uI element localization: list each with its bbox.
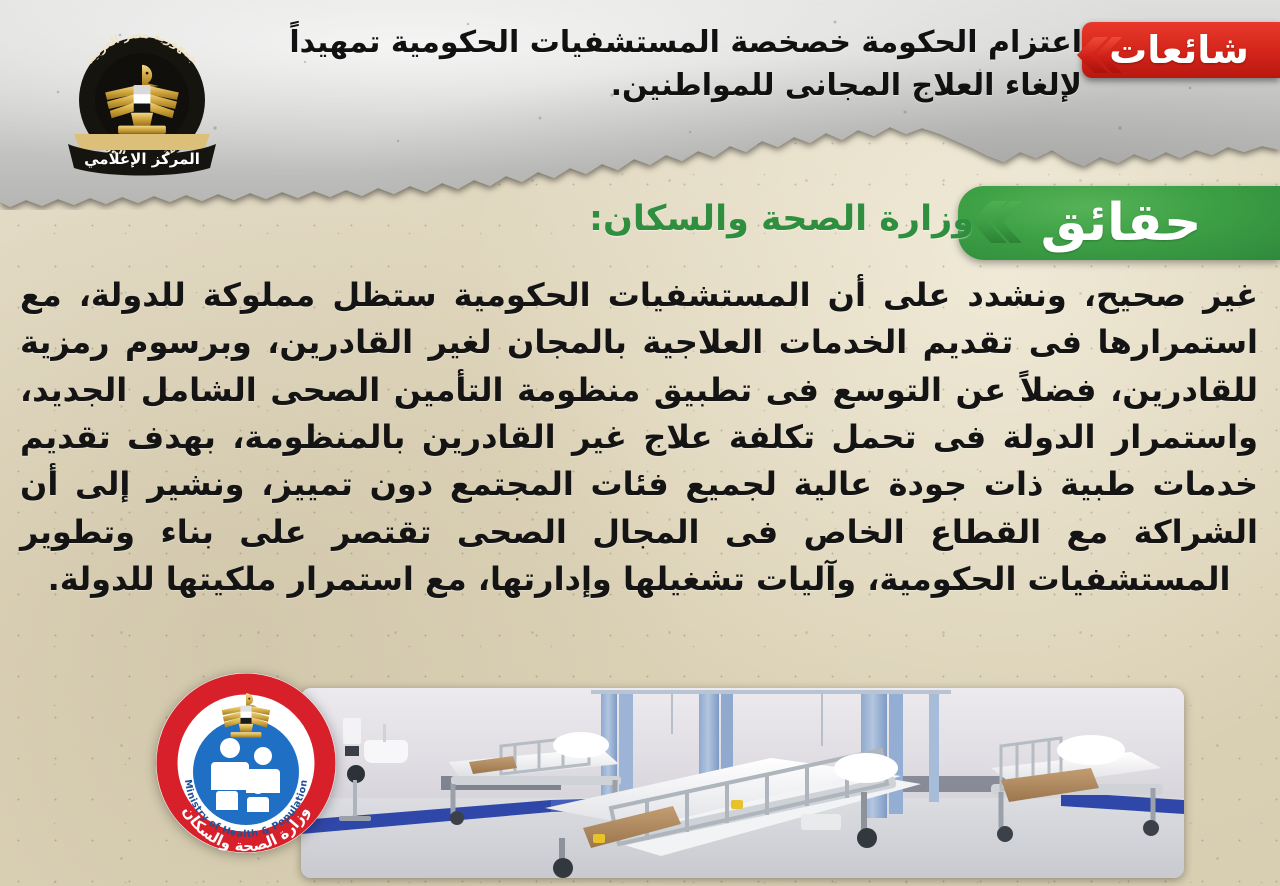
- facts-body-text: غير صحيح، ونشدد على أن المستشفيات الحكوم…: [20, 272, 1258, 604]
- rumor-text: اعتزام الحكومة خصخصة المستشفيات الحكومية…: [236, 22, 1082, 107]
- hospital-ward-photo: [301, 688, 1184, 878]
- cabinet-media-center-logo: جمهورية مصر العربية رئاسة مجلس الوزراء: [58, 18, 230, 178]
- infographic-canvas: جمهورية مصر العربية رئاسة مجلس الوزراء: [0, 0, 1280, 886]
- facts-subtitle: وزارة الصحة والسكان:: [589, 198, 974, 240]
- ministry-of-health-logo: Ministry of Health & Population وزارة ال…: [155, 672, 337, 854]
- cabinet-logo-banner-text: المركز الإعلامي: [84, 150, 200, 168]
- rumor-badge-label: شائعات: [1109, 31, 1249, 69]
- facts-badge-label: حقائق: [1041, 197, 1202, 249]
- cabinet-logo-banner: المركز الإعلامي: [68, 134, 216, 176]
